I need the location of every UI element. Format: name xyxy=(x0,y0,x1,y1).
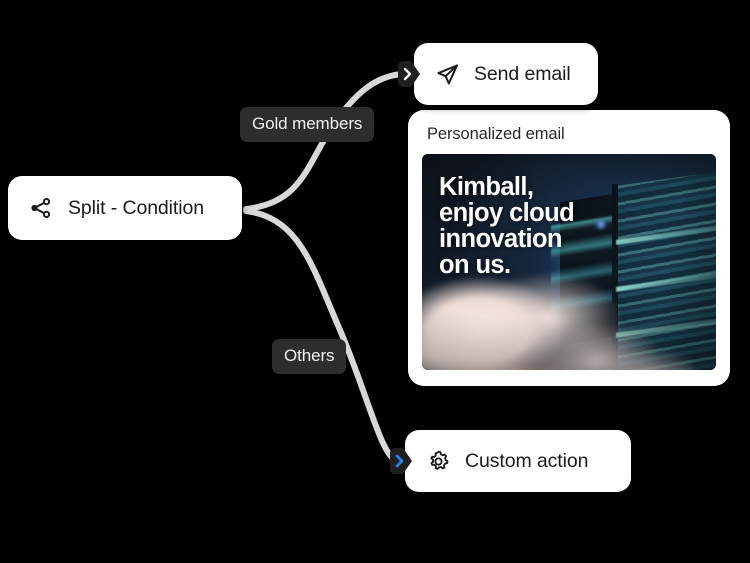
node-split-condition[interactable]: Split - Condition xyxy=(8,176,242,240)
branch-label-gold-members[interactable]: Gold members xyxy=(240,107,374,142)
email-card-title: Personalized email xyxy=(427,125,716,144)
node-custom-action-label: Custom action xyxy=(465,450,588,473)
email-artwork-thumbnail[interactable]: Kimball, enjoy cloud innovation on us. xyxy=(422,154,716,370)
share-split-icon xyxy=(28,195,54,221)
node-custom-action[interactable]: Custom action xyxy=(405,430,631,492)
node-personalized-email-card[interactable]: Personalized email Kimball, enjoy cloud … xyxy=(408,110,730,386)
paper-plane-icon xyxy=(434,61,460,87)
gear-icon xyxy=(425,448,451,474)
node-send-email-label: Send email xyxy=(474,63,571,86)
edge-arrow-custom-action[interactable] xyxy=(388,448,412,474)
edge-others xyxy=(246,211,396,461)
node-split-condition-label: Split - Condition xyxy=(68,197,204,220)
workflow-canvas[interactable]: Gold members Others Split - Condition xyxy=(0,0,750,563)
email-headline: Kimball, enjoy cloud innovation on us. xyxy=(439,174,574,278)
node-send-email[interactable]: Send email xyxy=(414,43,598,105)
edge-arrow-send-email[interactable] xyxy=(396,61,420,87)
branch-label-others[interactable]: Others xyxy=(272,339,346,374)
